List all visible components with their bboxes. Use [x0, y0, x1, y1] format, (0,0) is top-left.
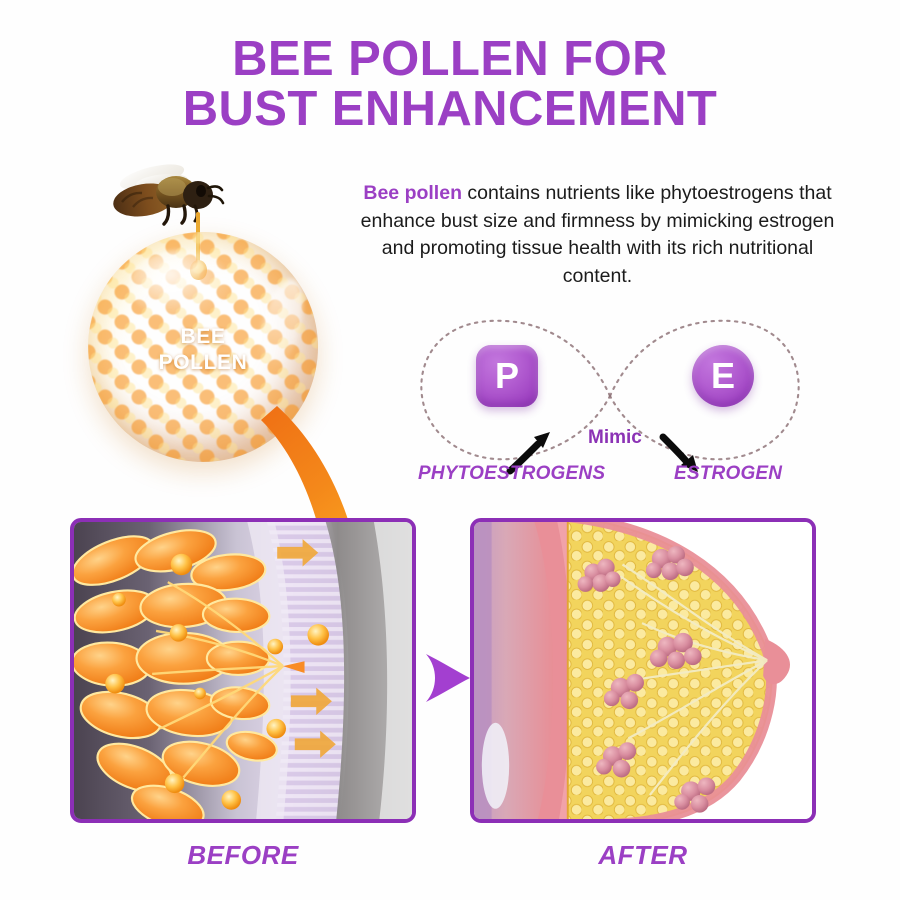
- caption-after: AFTER: [470, 840, 816, 871]
- honeybee-icon: [100, 160, 235, 226]
- badge-estrogen[interactable]: E: [692, 345, 754, 407]
- sphere-gloss-highlight: [129, 250, 230, 319]
- breast-anatomy-before-illustration: [74, 522, 412, 819]
- panel-after[interactable]: [470, 518, 816, 823]
- caption-before: BEFORE: [70, 840, 416, 871]
- intro-paragraph: Bee pollen contains nutrients like phyto…: [355, 180, 840, 291]
- panel-before[interactable]: [70, 518, 416, 823]
- purple-arrow-right-icon: [424, 650, 472, 706]
- label-estrogen: ESTROGEN: [674, 463, 782, 485]
- page-title: BEE POLLEN FOR BUST ENHANCEMENT: [0, 34, 900, 135]
- mimic-label: Mimic: [588, 427, 642, 449]
- breast-anatomy-after-illustration: [474, 522, 812, 819]
- brand-highlight: Bee pollen: [363, 182, 462, 204]
- label-phytoestrogens: PHYTOESTROGENS: [418, 463, 605, 485]
- title-line-1: BEE POLLEN FOR: [0, 34, 900, 84]
- badge-phytoestrogen[interactable]: P: [476, 345, 538, 407]
- mimic-infinity-diagram: P E Mimic PHYTOESTROGENS ESTROGEN: [410, 296, 810, 511]
- title-line-2: BUST ENHANCEMENT: [0, 84, 900, 134]
